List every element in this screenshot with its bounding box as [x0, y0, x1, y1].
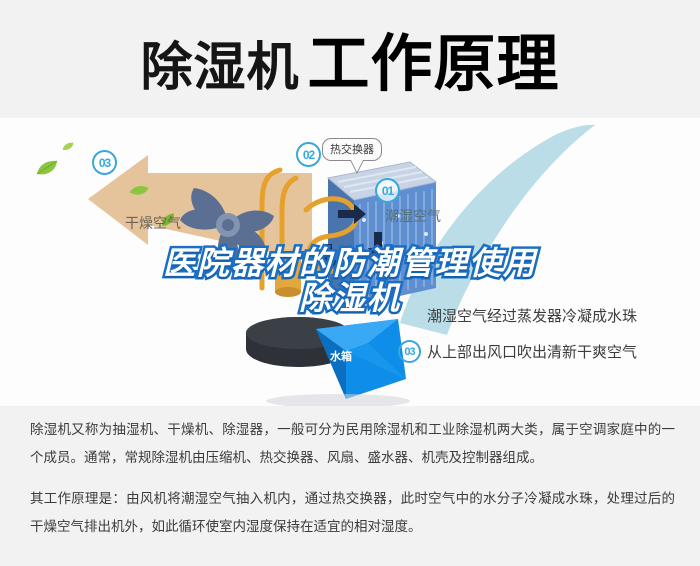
header-banner: 除湿机工作原理 — [0, 0, 700, 118]
article-paragraph-1: 除湿机又称为抽湿机、干燥机、除湿器，一般可分为民用除湿机和工业除湿机两大类，属于… — [30, 416, 675, 471]
dry-air-label: 干燥空气 — [125, 213, 181, 233]
humid-air-label: 潮湿空气 — [385, 206, 441, 226]
page-title: 除湿机工作原理 — [0, 34, 700, 96]
badge-02-heat-exchanger: 02 — [296, 142, 321, 167]
page-title-part1: 除湿机 — [140, 39, 299, 97]
caption-text-03: 从上部出风口吹出清新干爽空气 — [427, 341, 637, 362]
caption-step-02: 02 潮湿空气经过蒸发器冷凝成水珠 — [398, 304, 637, 327]
article-paragraph-2: 其工作原理是：由风机将潮湿空气抽入机内，通过热交换器，此时空气中的水分子冷凝成水… — [30, 485, 675, 540]
dehumidifier-diagram: 03 02 01 热交换器 干燥空气 潮湿空气 水箱 02 潮湿空气经过蒸发器冷… — [0, 118, 700, 406]
water-tank-label: 水箱 — [330, 348, 352, 364]
leaf-icon — [62, 142, 74, 151]
caption-badge-03: 03 — [398, 340, 421, 363]
fan-icon — [168, 166, 288, 286]
page-title-part2: 工作原理 — [308, 30, 560, 99]
page-root: 除湿机工作原理 — [0, 0, 700, 566]
caption-text-02: 潮湿空气经过蒸发器冷凝成水珠 — [427, 305, 637, 326]
leaf-icon — [36, 160, 58, 176]
heat-exchanger-callout: 热交换器 — [322, 138, 382, 161]
article-body: 除湿机又称为抽湿机、干燥机、除湿器，一般可分为民用除湿机和工业除湿机两大类，属于… — [30, 416, 675, 555]
caption-step-03: 03 从上部出风口吹出清新干爽空气 — [398, 340, 637, 363]
badge-03-dry-air: 03 — [92, 150, 117, 175]
badge-01-humid-air: 01 — [375, 178, 400, 203]
